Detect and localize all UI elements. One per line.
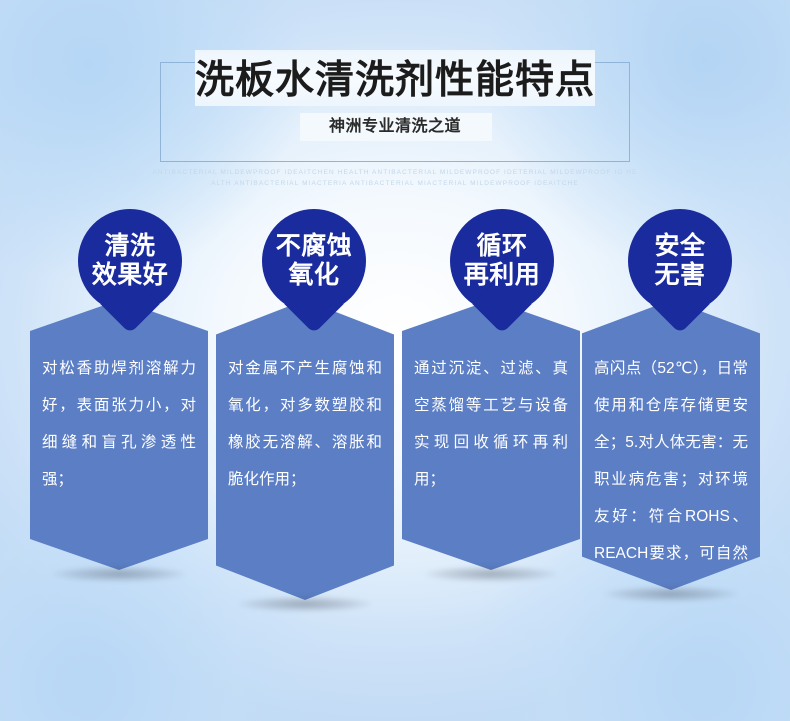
feature-badge-line2-2: 氧化 xyxy=(288,261,339,290)
feature-body-1: 对松香助焊剂溶解力好，表面张力小，对细缝和盲孔渗透性强； xyxy=(42,350,196,498)
feature-badge-line2-1: 效果好 xyxy=(92,261,169,290)
feature-badge-label-3: 循环 再利用 xyxy=(450,209,554,313)
feature-body-4: 高闪点（52℃），日常使用和仓库存储更安全；5.对人体无害：无职业病危害；对环境… xyxy=(594,350,748,609)
feature-badge-1: 清洗 效果好 xyxy=(78,209,182,313)
feature-panel-1: 对松香助焊剂溶解力好，表面张力小，对细缝和盲孔渗透性强； xyxy=(30,300,208,570)
feature-badge-line1-2: 不腐蚀 xyxy=(276,232,353,261)
feature-badge-line1-1: 清洗 xyxy=(104,232,155,261)
feature-badge-label-4: 安全 无害 xyxy=(628,209,732,313)
feature-badge-label-1: 清洗 效果好 xyxy=(78,209,182,313)
feature-body-2: 对金属不产生腐蚀和氧化，对多数塑胶和橡胶无溶解、溶胀和脆化作用； xyxy=(228,350,382,498)
feature-badge-4: 安全 无害 xyxy=(628,209,732,313)
feature-column-3: 通过沉淀、过滤、真空蒸馏等工艺与设备实现回收循环再利用； xyxy=(402,300,580,570)
feature-column-1: 对松香助焊剂溶解力好，表面张力小，对细缝和盲孔渗透性强； xyxy=(30,300,208,570)
feature-badge-line2-3: 再利用 xyxy=(464,261,541,290)
feature-badge-line1-3: 循环 xyxy=(476,232,527,261)
feature-panel-shadow-2 xyxy=(238,596,372,612)
feature-badge-line2-4: 无害 xyxy=(654,261,705,290)
feature-panel-shadow-4 xyxy=(604,586,738,602)
feature-column-4: 高闪点（52℃），日常使用和仓库存储更安全；5.对人体无害：无职业病危害；对环境… xyxy=(582,300,760,590)
feature-badge-2: 不腐蚀 氧化 xyxy=(262,209,366,313)
feature-columns: 对松香助焊剂溶解力好，表面张力小，对细缝和盲孔渗透性强； 对金属不产生腐蚀和氧化… xyxy=(0,0,790,721)
infographic-poster: 洗板水清洗剂性能特点 神洲专业清洗之道 ANTIBACTERIAL MILDEW… xyxy=(0,0,790,721)
feature-panel-4: 高闪点（52℃），日常使用和仓库存储更安全；5.对人体无害：无职业病危害；对环境… xyxy=(582,300,760,590)
feature-body-3: 通过沉淀、过滤、真空蒸馏等工艺与设备实现回收循环再利用； xyxy=(414,350,568,498)
feature-panel-3: 通过沉淀、过滤、真空蒸馏等工艺与设备实现回收循环再利用； xyxy=(402,300,580,570)
feature-panel-2: 对金属不产生腐蚀和氧化，对多数塑胶和橡胶无溶解、溶胀和脆化作用； xyxy=(216,300,394,600)
feature-column-2: 对金属不产生腐蚀和氧化，对多数塑胶和橡胶无溶解、溶胀和脆化作用； xyxy=(216,300,394,600)
feature-panel-shadow-3 xyxy=(424,566,558,582)
feature-panel-shadow-1 xyxy=(52,566,186,582)
feature-badge-label-2: 不腐蚀 氧化 xyxy=(262,209,366,313)
feature-badge-3: 循环 再利用 xyxy=(450,209,554,313)
feature-badge-line1-4: 安全 xyxy=(654,232,705,261)
